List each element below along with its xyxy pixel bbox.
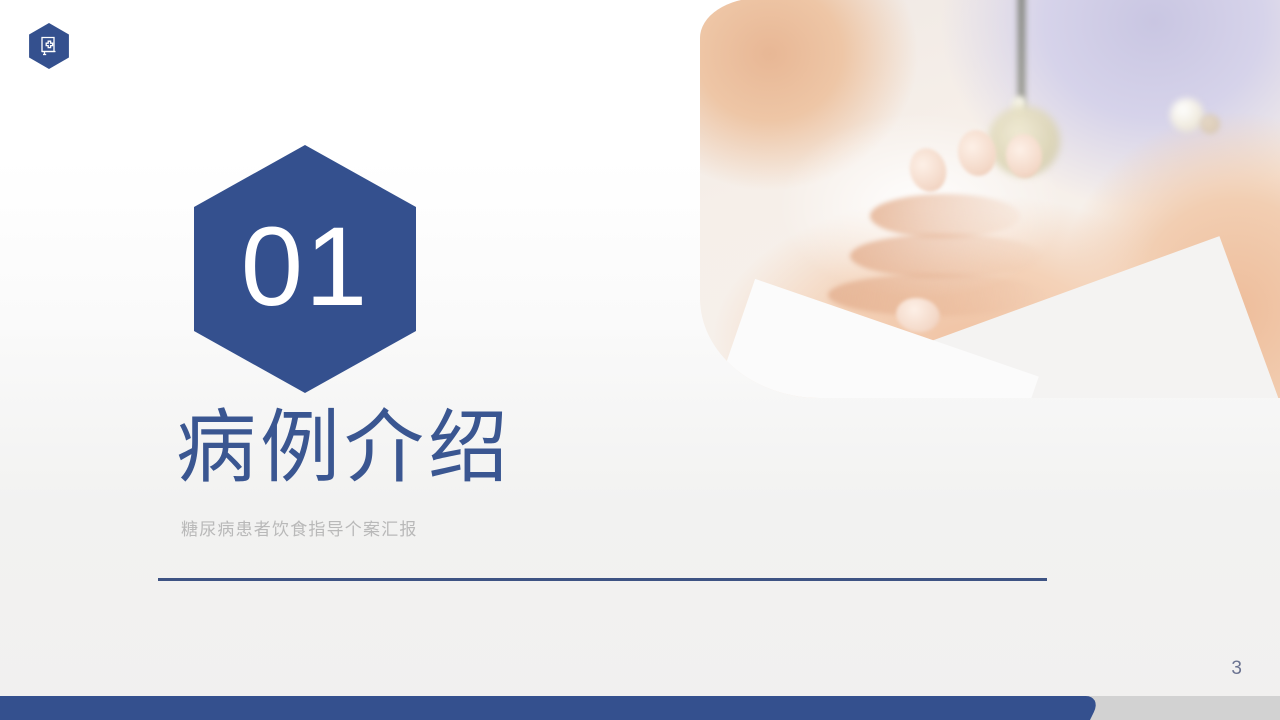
section-number-label: 01 xyxy=(194,145,416,393)
hand-finger xyxy=(850,234,1040,278)
section-title: 病例介绍 xyxy=(176,408,512,488)
hand-finger xyxy=(870,194,1020,238)
slide-canvas: 01 病例介绍 糖尿病患者饮食指导个案汇报 3 xyxy=(0,0,1280,720)
section-number-badge: 01 xyxy=(194,145,416,393)
uniform-badge-secondary xyxy=(1200,114,1220,134)
hero-photo-image xyxy=(700,0,1280,398)
uniform-badge xyxy=(1170,98,1204,132)
title-divider xyxy=(158,578,1047,581)
section-subtitle: 糖尿病患者饮食指导个案汇报 xyxy=(181,515,418,540)
hero-photo xyxy=(700,0,1280,398)
fingernail xyxy=(905,144,952,196)
brand-logo xyxy=(26,23,72,69)
footer-bar-blue xyxy=(0,696,1102,720)
page-number: 3 xyxy=(1231,658,1242,680)
medical-book-icon xyxy=(26,23,72,69)
